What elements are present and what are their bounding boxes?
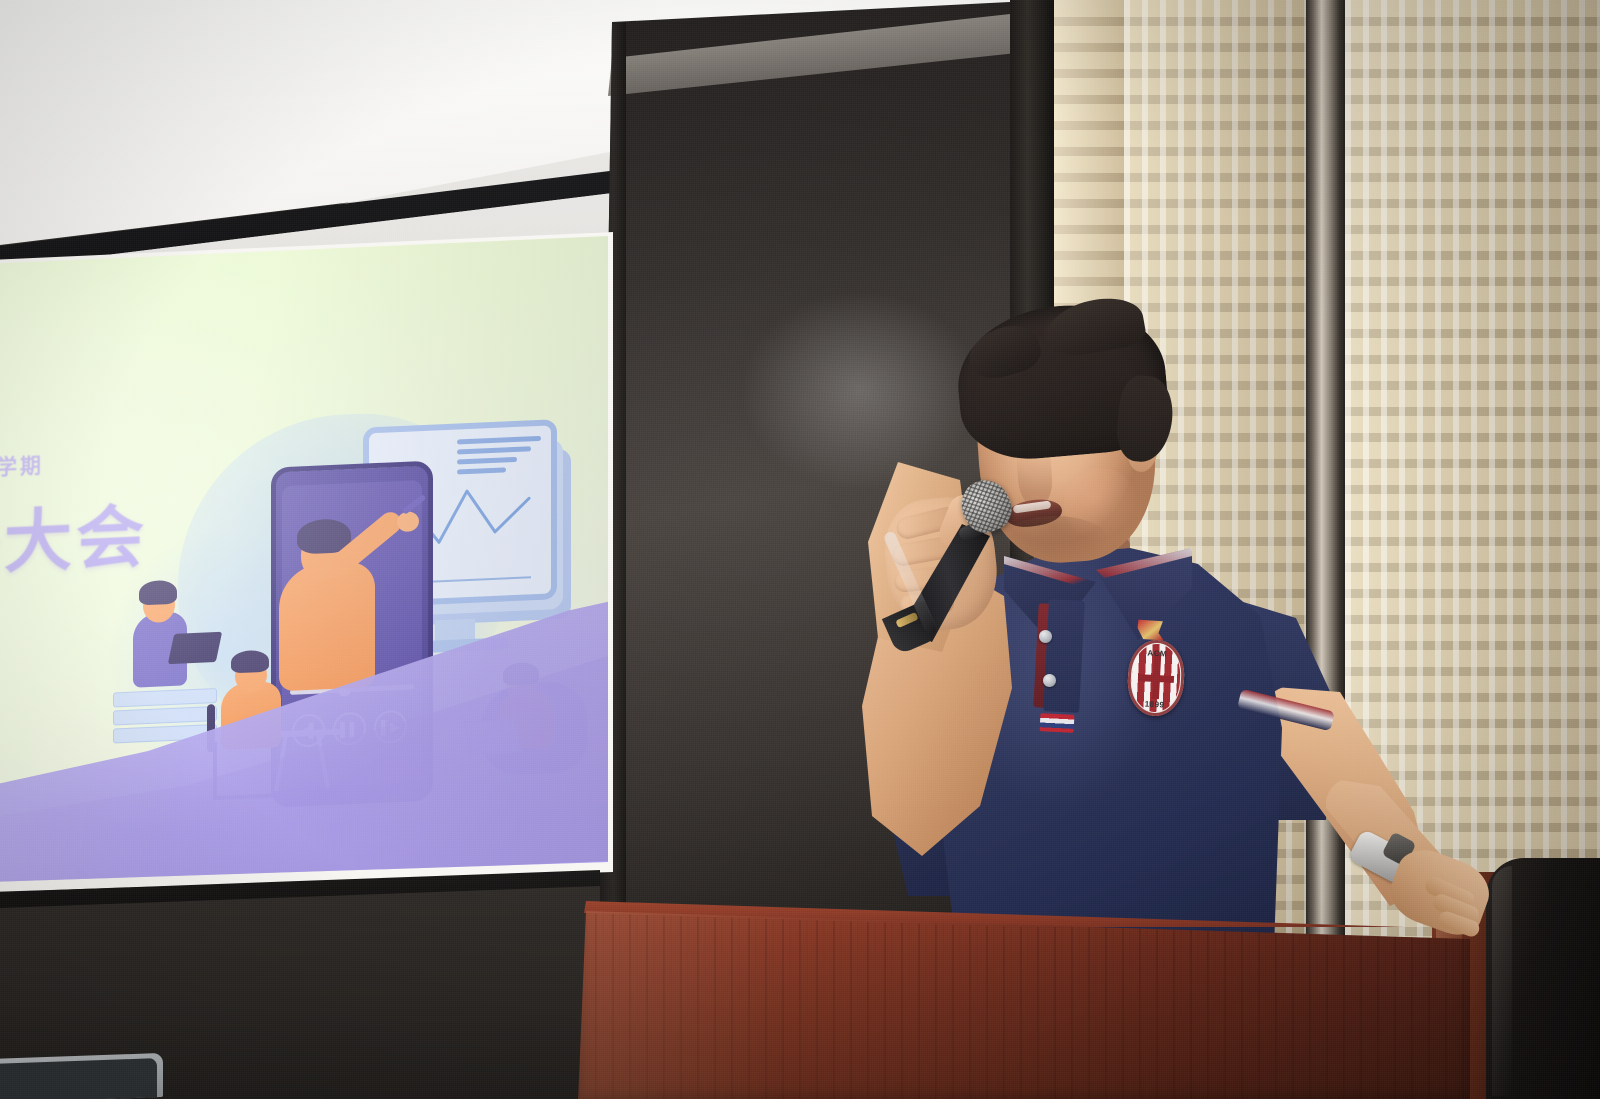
photo-scene: ◀▌ ▌▌ ▌▶ <box>0 0 1600 1099</box>
polo-stripe-tab <box>1040 713 1075 733</box>
polo-button-bottom <box>1043 674 1056 687</box>
polo-button-top <box>1039 630 1052 643</box>
polo-placket <box>1043 599 1085 713</box>
speaker-jaw-shadow <box>1000 516 1110 568</box>
ac-milan-crest: ACM 1899 <box>1126 639 1186 718</box>
